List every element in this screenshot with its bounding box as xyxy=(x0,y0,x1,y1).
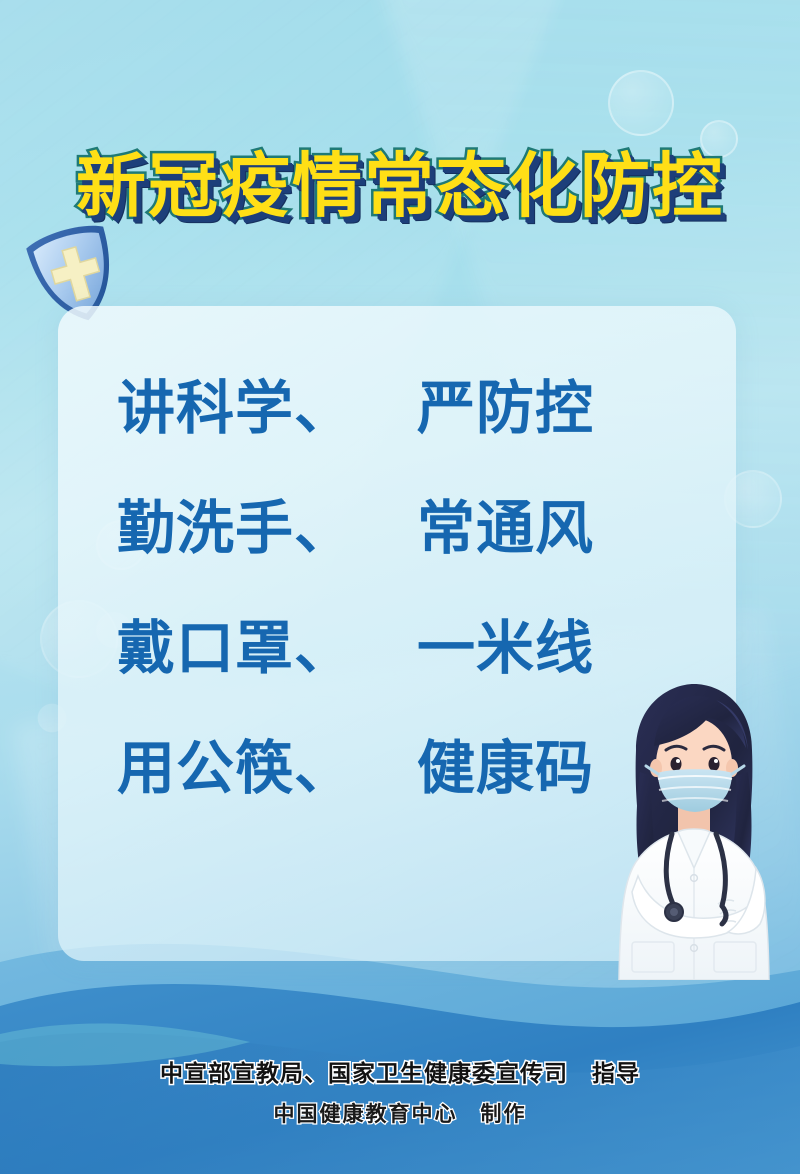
footer-credits: 中宣部宣教局、国家卫生健康委宣传司 指导 中国健康教育中心 制作 xyxy=(0,1054,800,1128)
slogan-right-text: 严防控 xyxy=(417,379,677,437)
page-title: 新冠疫情常态化防控 xyxy=(76,140,724,232)
slogan-left-text: 讲科学、 xyxy=(117,379,417,437)
slogan-right-text: 一米线 xyxy=(417,619,677,677)
slogan-row: 勤洗手、 常通风 xyxy=(58,468,736,588)
slogan-left-text: 戴口罩、 xyxy=(117,619,417,677)
poster-canvas: 新冠疫情常态化防控 xyxy=(0,0,800,1174)
slogan-left-text: 勤洗手、 xyxy=(117,499,417,557)
slogan-left-text: 用公筷、 xyxy=(117,739,417,797)
footer-guidance-line: 中宣部宣教局、国家卫生健康委宣传司 指导 xyxy=(0,1054,800,1088)
poster-title-row: 新冠疫情常态化防控 xyxy=(0,140,800,232)
footer-producer-line: 中国健康教育中心 制作 xyxy=(0,1098,800,1128)
slogan-row: 讲科学、 严防控 xyxy=(58,348,736,468)
bubble-decoration-icon xyxy=(608,70,674,136)
masked-female-doctor-illustration xyxy=(588,680,800,980)
slogan-right-text: 常通风 xyxy=(417,499,677,557)
